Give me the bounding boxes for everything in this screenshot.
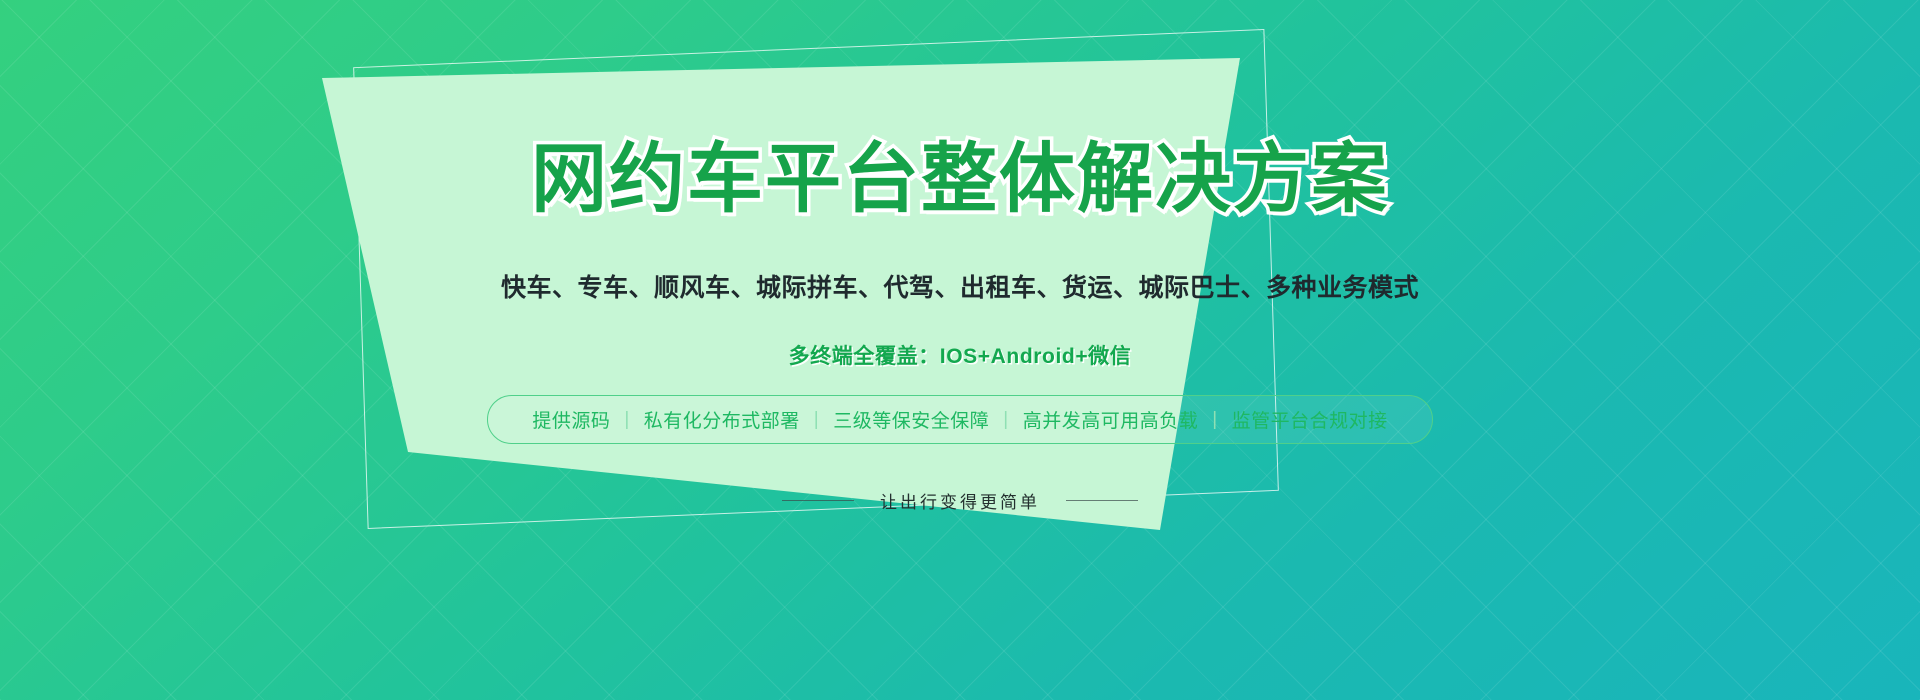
feature-item-regulatory-integration: 监管平台合规对接 <box>1218 406 1402 433</box>
feature-pill-container: 提供源码 | 私有化分布式部署 | 三级等保安全保障 | 高并发高可用高负载 |… <box>0 395 1920 444</box>
promo-banner: 网约车平台整体解决方案 快车、专车、顺风车、城际拼车、代驾、出租车、货运、城际巴… <box>0 0 1920 700</box>
platform-coverage-text: 多终端全覆盖：IOS+Android+微信 <box>0 340 1920 370</box>
feature-item-private-deployment: 私有化分布式部署 <box>630 406 814 433</box>
tagline-container: 让出行变得更简单 <box>0 488 1920 513</box>
feature-item-security-grade: 三级等保安全保障 <box>819 406 1003 433</box>
tagline-text: 让出行变得更简单 <box>880 488 1040 513</box>
feature-item-high-concurrency: 高并发高可用高负载 <box>1009 406 1213 433</box>
page-title: 网约车平台整体解决方案 <box>0 142 1920 218</box>
feature-pill: 提供源码 | 私有化分布式部署 | 三级等保安全保障 | 高并发高可用高负载 |… <box>487 395 1432 444</box>
banner-content: 网约车平台整体解决方案 快车、专车、顺风车、城际拼车、代驾、出租车、货运、城际巴… <box>0 0 1920 700</box>
tagline-rule-right <box>1066 500 1138 501</box>
feature-item-source-code: 提供源码 <box>518 406 624 433</box>
tagline-rule-left <box>782 500 854 501</box>
banner-subtitle: 快车、专车、顺风车、城际拼车、代驾、出租车、货运、城际巴士、多种业务模式 <box>0 268 1920 304</box>
